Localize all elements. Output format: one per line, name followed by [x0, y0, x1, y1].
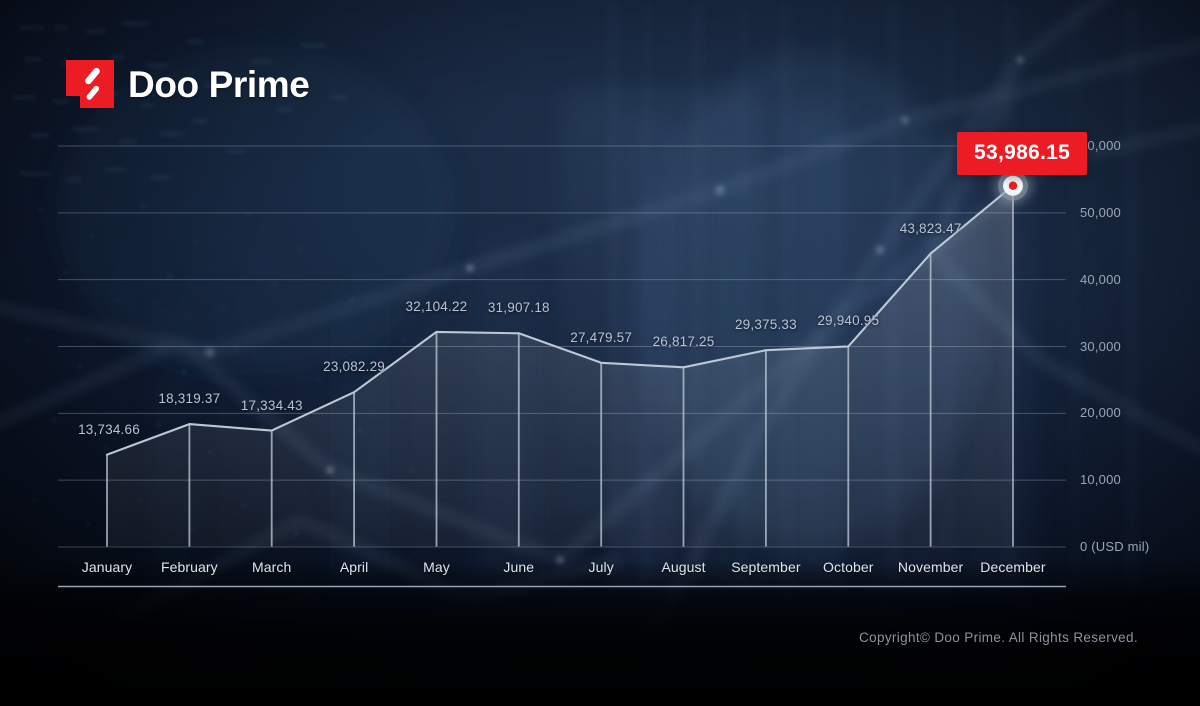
x-axis-tick-label: April [340, 560, 369, 574]
x-axis-tick-label: October [823, 560, 874, 574]
data-point-label: 29,375.33 [735, 318, 797, 332]
data-point-label: 17,334.43 [241, 399, 303, 413]
x-axis-tick-label: November [898, 560, 963, 574]
y-axis-tick-label: 50,000 [1080, 206, 1121, 219]
x-axis-tick-label: August [661, 560, 705, 574]
data-point-label: 23,082.29 [323, 360, 385, 374]
highlight-value-badge: 53,986.15 [957, 132, 1087, 175]
data-point-label: 27,479.57 [570, 331, 632, 345]
y-axis-tick-label: 40,000 [1080, 273, 1121, 286]
x-axis-tick-label: July [589, 560, 614, 574]
data-point-label: 26,817.25 [653, 335, 715, 349]
data-point-label: 29,940.95 [817, 314, 879, 328]
y-axis-tick-label: 30,000 [1080, 340, 1121, 353]
y-axis-tick-label: 20,000 [1080, 406, 1121, 419]
data-point-label: 13,734.66 [78, 423, 140, 437]
data-point-label: 31,907.18 [488, 301, 550, 315]
revenue-area-chart: 0 (USD mil)10,00020,00030,00040,00050,00… [0, 0, 1200, 706]
x-axis-tick-label: June [503, 560, 534, 574]
data-point-label: 43,823.47 [900, 222, 962, 236]
y-axis-tick-label: 10,000 [1080, 473, 1121, 486]
chart-plot-svg [0, 0, 1200, 706]
footer-copyright: Copyright© Doo Prime. All Rights Reserve… [859, 630, 1138, 645]
data-point-label: 18,319.37 [158, 392, 220, 406]
x-axis-tick-label: March [252, 560, 291, 574]
x-axis-tick-label: September [731, 560, 800, 574]
infographic-canvas: Doo Prime [0, 0, 1200, 706]
x-axis-tick-label: December [980, 560, 1045, 574]
chart-area-fill [107, 186, 1013, 547]
y-axis-tick-label: 0 (USD mil) [1080, 540, 1149, 553]
x-axis-tick-label: January [82, 560, 133, 574]
x-axis-tick-label: May [423, 560, 450, 574]
x-axis-tick-label: February [161, 560, 218, 574]
data-point-label: 32,104.22 [406, 300, 468, 314]
